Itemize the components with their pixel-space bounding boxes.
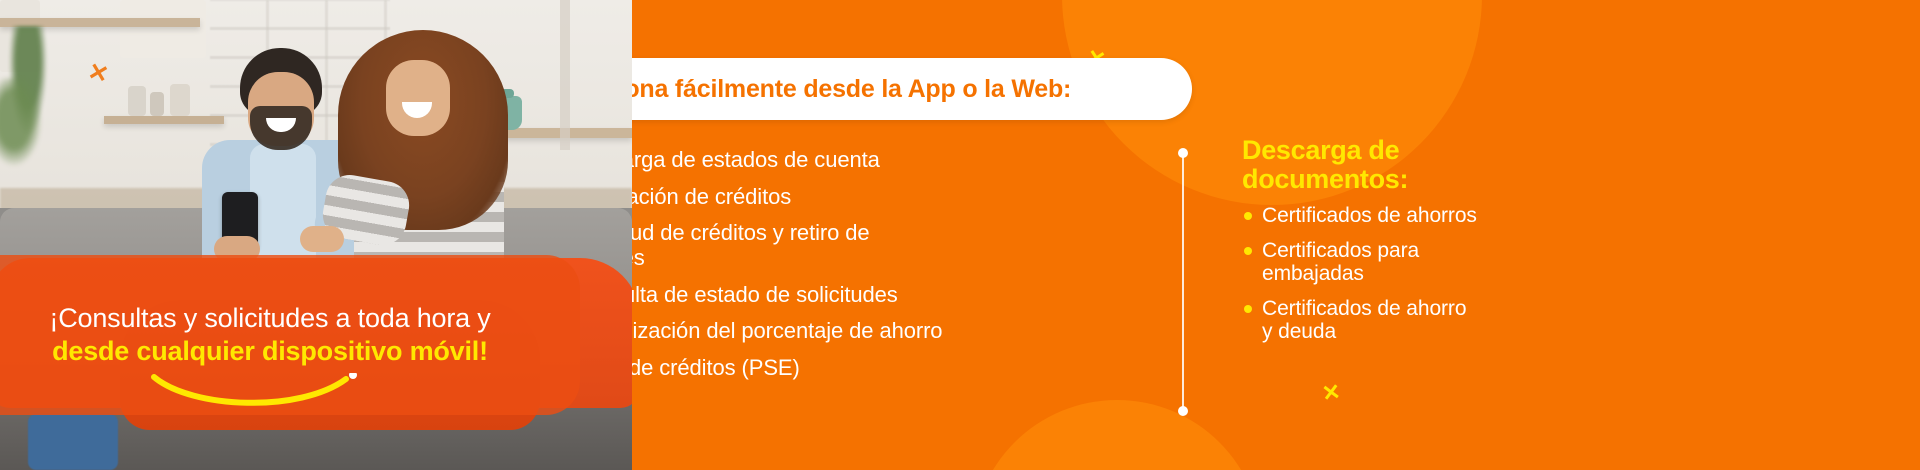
promo-banner: ✕ ¡Consultas y solicitudes a toda hora y… <box>0 0 1920 470</box>
documents-title-line-1: Descarga de <box>1242 136 1662 165</box>
list-item: Descarga de estados de cuenta <box>632 148 1050 173</box>
plant <box>0 78 44 170</box>
two-column-content: Descarga de estados de cuenta Simulación… <box>632 148 1920 428</box>
content-panel: ✕ ✕ Gestiona fácilmente desde la App o l… <box>632 0 1920 470</box>
list-item: Consulta de estado de solicitudes <box>632 283 1050 308</box>
caption-line-1: ¡Consultas y solicitudes a toda hora y <box>49 303 490 333</box>
caption-overlay: ¡Consultas y solicitudes a toda hora y d… <box>0 255 580 415</box>
divider-dot-bottom <box>1178 406 1188 416</box>
jar <box>150 92 164 116</box>
woman-face <box>386 60 450 136</box>
list-item-line-1: Certificados para <box>1262 239 1662 263</box>
list-item-line-1: Certificados de ahorros <box>1262 204 1662 228</box>
list-item: Solicitud de créditos y retiro de aporte… <box>632 221 902 270</box>
jar <box>170 84 190 116</box>
services-list: Descarga de estados de cuenta Simulación… <box>632 148 1050 380</box>
list-item: Simulación de créditos <box>632 185 1050 210</box>
list-item-line-1: Certificados de ahorro <box>1262 297 1662 321</box>
kitchen-cabinet <box>120 0 206 58</box>
list-item: Certificados de ahorro y deuda <box>1242 297 1662 344</box>
jeans <box>28 414 118 470</box>
services-column: Descarga de estados de cuenta Simulación… <box>632 148 1050 392</box>
headline-text: Gestiona fácilmente desde la App o la We… <box>632 75 1071 104</box>
list-item: Actualización del porcentaje de ahorro <box>632 319 1050 344</box>
documents-title: Descarga de documentos: <box>1242 136 1662 194</box>
list-item: Pago de créditos (PSE) <box>632 356 1050 381</box>
lifestyle-photo: ✕ ¡Consultas y solicitudes a toda hora y… <box>0 0 632 470</box>
smile-swoosh-icon <box>150 373 360 409</box>
floor-lamp <box>560 0 570 150</box>
list-item: Certificados de ahorros <box>1242 204 1662 228</box>
hand <box>300 226 344 252</box>
jar <box>128 86 146 116</box>
caption-line-2: desde cualquier dispositivo móvil! <box>52 336 488 367</box>
divider-dot-top <box>1178 148 1188 158</box>
list-item-line-2: embajadas <box>1262 262 1662 286</box>
documents-list: Certificados de ahorros Certificados par… <box>1242 204 1662 344</box>
documents-title-line-2: documentos: <box>1242 165 1662 194</box>
column-divider <box>1182 153 1184 411</box>
documents-column: Descarga de documentos: Certificados de … <box>1242 136 1662 355</box>
headline-pill: Gestiona fácilmente desde la App o la We… <box>632 58 1192 120</box>
list-item-line-2: y deuda <box>1262 320 1662 344</box>
list-item: Certificados para embajadas <box>1242 239 1662 286</box>
